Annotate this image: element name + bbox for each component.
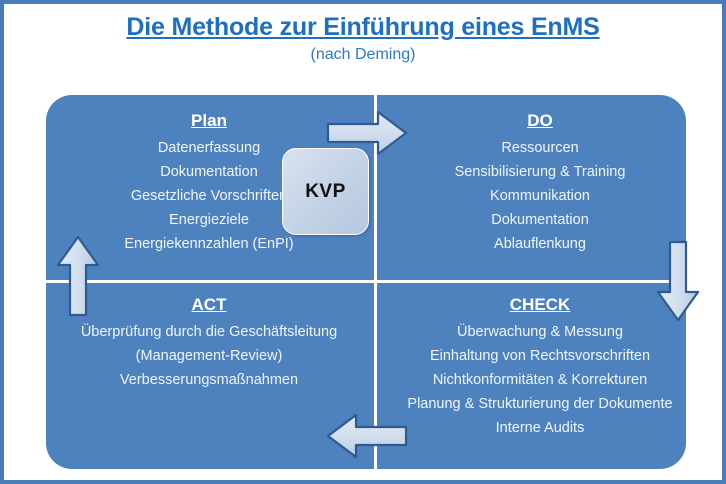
list-item: Ablauflenkung	[377, 232, 686, 256]
page-subtitle: (nach Deming)	[4, 44, 722, 66]
arrow-up-icon	[56, 235, 100, 317]
arrow-down-icon	[656, 240, 700, 322]
quadrant-do-title: DO	[377, 109, 686, 133]
arrow-right-icon	[326, 110, 408, 156]
arrow-left-icon	[322, 413, 408, 459]
list-item: Verbesserungsmaßnahmen	[46, 368, 372, 392]
quadrant-do-list: Ressourcen Sensibilisierung & Training K…	[377, 136, 686, 256]
horizontal-divider	[46, 280, 686, 283]
list-item: Sensibilisierung & Training	[377, 160, 686, 184]
title-block: Die Methode zur Einführung eines EnMS (n…	[4, 12, 722, 66]
list-item: Überprüfung durch die Geschäftsleitung	[46, 320, 372, 344]
list-item: Dokumentation	[377, 208, 686, 232]
quadrant-check[interactable]: CHECK Überwachung & Messung Einhaltung v…	[377, 293, 686, 440]
list-item: Nichtkonformitäten & Korrekturen	[377, 368, 686, 392]
list-item: Interne Audits	[377, 416, 686, 440]
quadrant-check-title: CHECK	[377, 293, 686, 317]
quadrant-plan-title: Plan	[46, 109, 372, 133]
list-item: Kommunikation	[377, 184, 686, 208]
list-item: Planung & Strukturierung der Dokumente	[377, 392, 686, 416]
quadrant-check-list: Überwachung & Messung Einhaltung von Rec…	[377, 320, 686, 440]
diagram-page: Die Methode zur Einführung eines EnMS (n…	[0, 0, 726, 484]
kvp-box[interactable]: KVP	[282, 148, 369, 235]
list-item: Ressourcen	[377, 136, 686, 160]
page-title: Die Methode zur Einführung eines EnMS	[4, 12, 722, 42]
quadrant-do[interactable]: DO Ressourcen Sensibilisierung & Trainin…	[377, 109, 686, 256]
list-item: Einhaltung von Rechtsvorschriften	[377, 344, 686, 368]
list-item: (Management-Review)	[46, 344, 372, 368]
quadrant-act-list: Überprüfung durch die Geschäftsleitung (…	[46, 320, 372, 392]
list-item: Überwachung & Messung	[377, 320, 686, 344]
kvp-label: KVP	[305, 181, 346, 203]
